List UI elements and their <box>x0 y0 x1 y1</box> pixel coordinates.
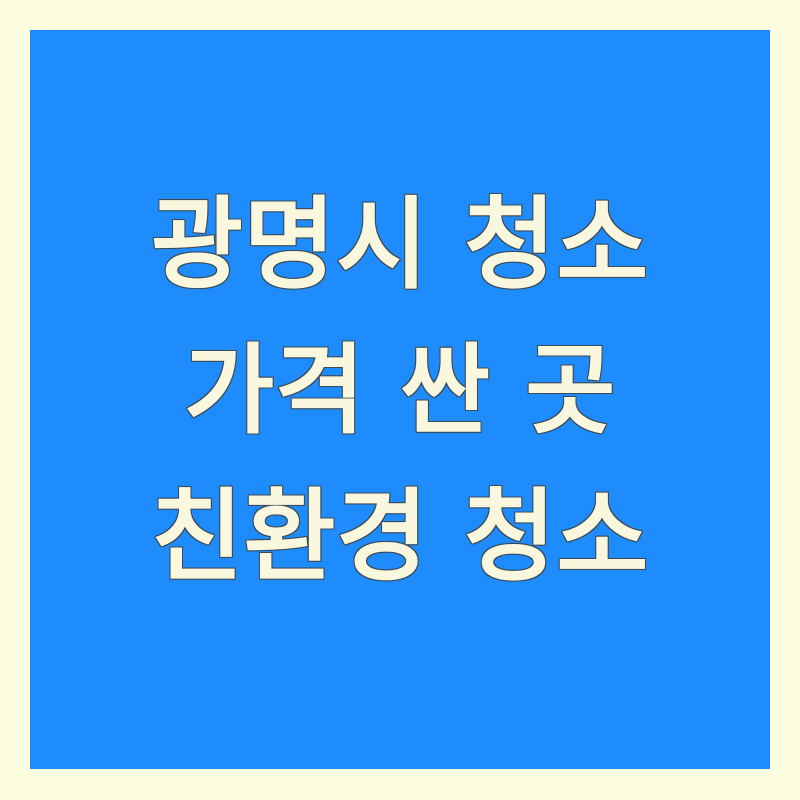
headline-line-2: 가격 싼 곳 <box>30 318 770 464</box>
poster-blue-panel: 광명시 청소 가격 싼 곳 친환경 청소 <box>30 30 770 769</box>
headline-block: 광명시 청소 가격 싼 곳 친환경 청소 <box>30 172 770 610</box>
poster-canvas: 광명시 청소 가격 싼 곳 친환경 청소 <box>0 0 800 800</box>
headline-line-1: 광명시 청소 <box>30 172 770 318</box>
headline-line-3: 친환경 청소 <box>30 464 770 610</box>
